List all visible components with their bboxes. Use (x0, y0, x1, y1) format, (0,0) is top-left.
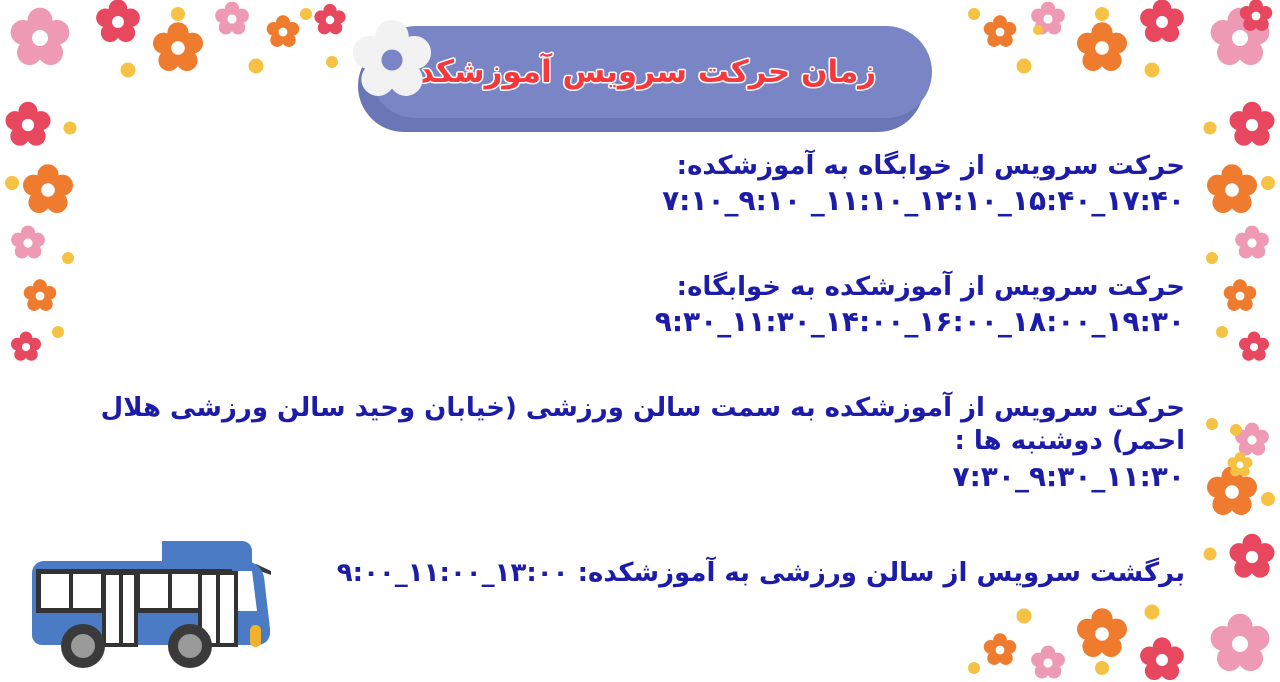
schedule-entry-times: ۹:۰۰_۱۱:۰۰_۱۳:۰۰ (337, 557, 569, 591)
schedule-entry-heading: حرکت سرویس از آموزشکده به سمت سالن ورزشی… (60, 392, 1185, 459)
bus-wheel-front (168, 624, 212, 668)
schedule-entry-times: ۷:۳۰_۹:۳۰_۱۱:۳۰ (60, 459, 1185, 495)
title-banner: زمان حرکت سرویس آموزشکده (358, 22, 932, 134)
flower-icon (350, 18, 434, 102)
schedule-entry-heading: حرکت سرویس از خوابگاه به آموزشکده: (60, 150, 1185, 183)
page-title: زمان حرکت سرویس آموزشکده (370, 26, 932, 118)
bus-marker-light (250, 625, 261, 647)
schedule-entry: حرکت سرویس از خوابگاه به آموزشکده: ۷:۱۰_… (60, 150, 1185, 219)
poster-canvas: زمان حرکت سرویس آموزشکده حرکت سرویس از خ… (0, 0, 1280, 682)
schedule-entry-heading: برگشت سرویس از سالن ورزشی به آموزشکده: (578, 558, 1185, 588)
bus-wheel-rear (61, 624, 105, 668)
schedule-entry: حرکت سرویس از آموزشکده به سمت سالن ورزشی… (60, 392, 1185, 494)
schedule-entry-times: ۹:۳۰_۱۱:۳۰_۱۴:۰۰_۱۶:۰۰_۱۸:۰۰_۱۹:۳۰ (60, 304, 1185, 340)
bus-icon (22, 527, 290, 679)
schedule-entry-heading: حرکت سرویس از آموزشکده به خوابگاه: (60, 271, 1185, 304)
bus-door-rear (102, 571, 138, 647)
schedule-entry: حرکت سرویس از آموزشکده به خوابگاه: ۹:۳۰_… (60, 271, 1185, 340)
schedule-entry-times: ۷:۱۰_۹:۱۰ _۱۱:۱۰_۱۲:۱۰_۱۵:۴۰_۱۷:۴۰ (60, 183, 1185, 219)
